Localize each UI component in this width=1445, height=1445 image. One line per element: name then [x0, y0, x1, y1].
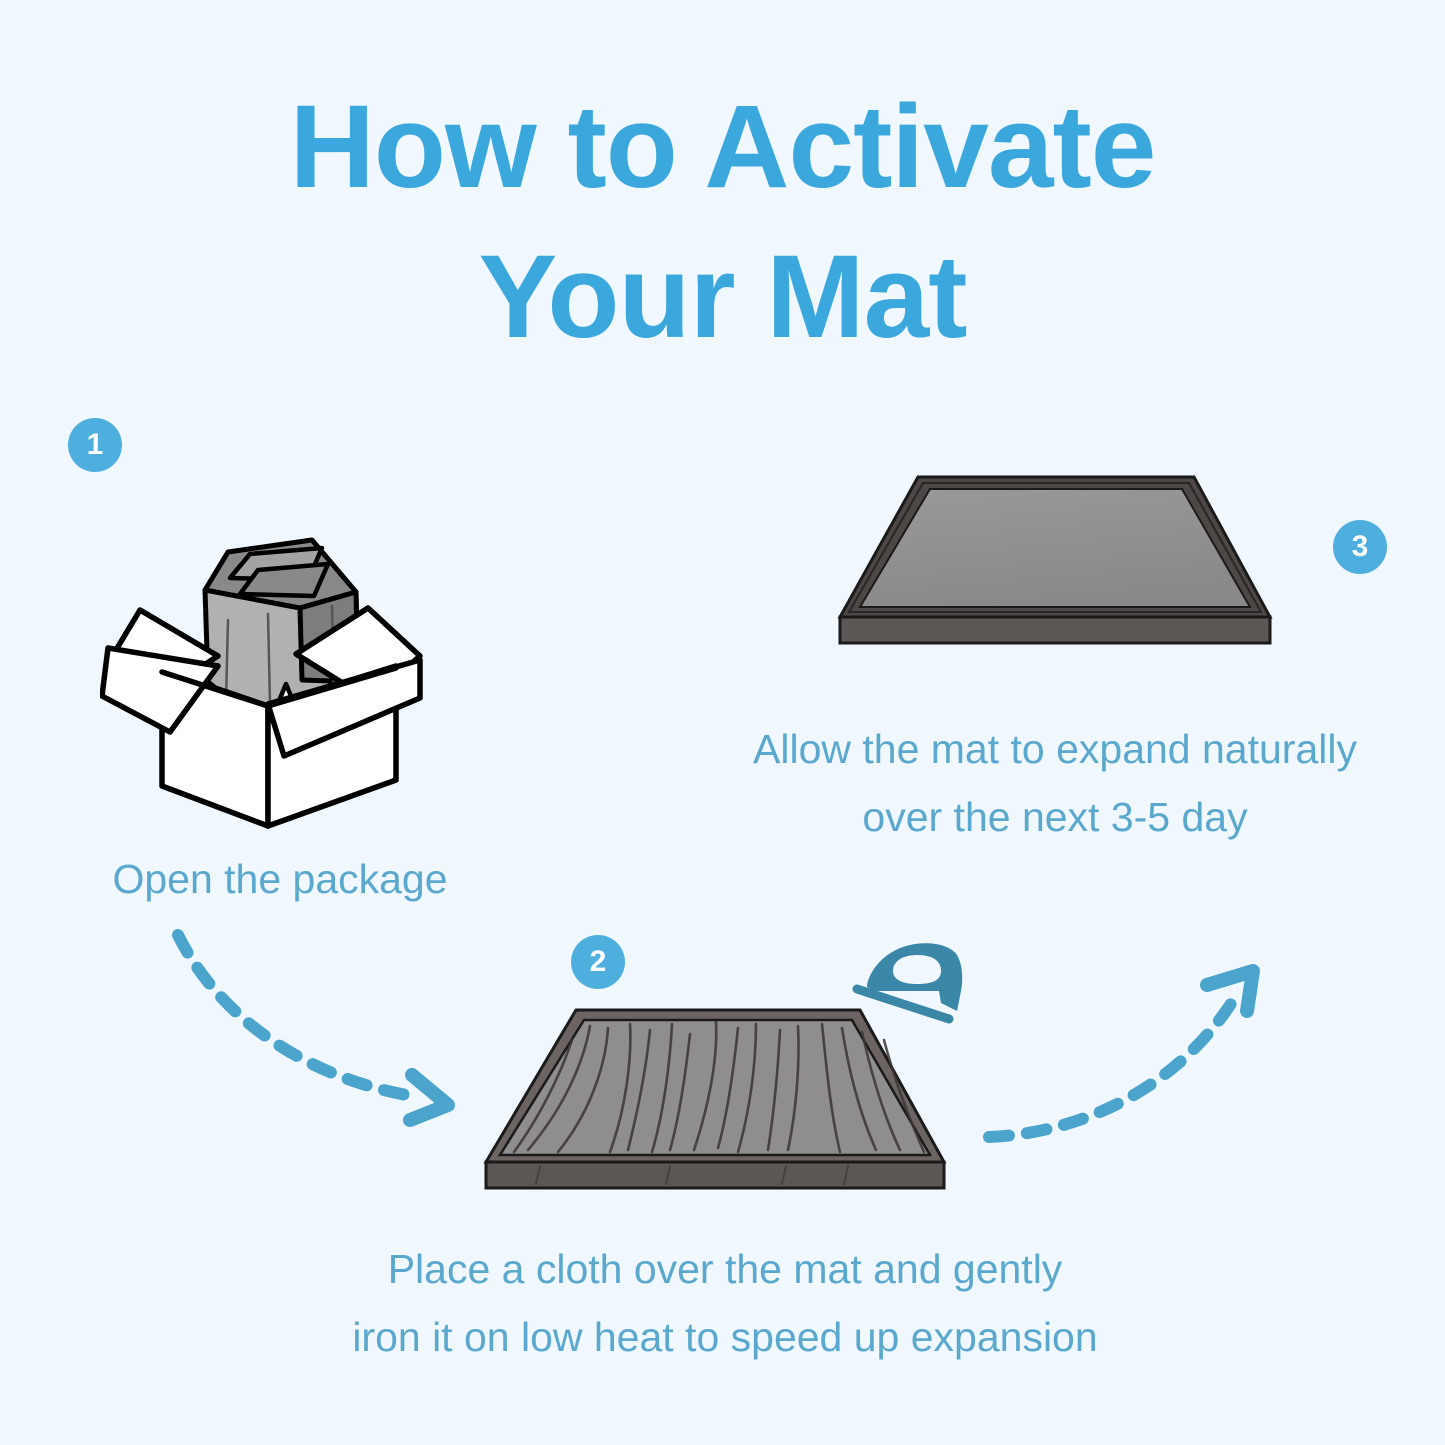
open-shipping-box-icon	[100, 470, 460, 830]
flat-mat-icon	[820, 465, 1290, 665]
curved-dashed-arrow-up-right-icon	[975, 955, 1285, 1160]
title-line-1: How to Activate	[0, 72, 1445, 222]
infographic-poster: How to Activate Your Mat 1	[0, 0, 1445, 1445]
step-badge-1: 1	[68, 418, 122, 472]
wrinkled-mat-icon	[480, 1000, 950, 1215]
step-3-caption: Allow the mat to expand naturally over t…	[660, 715, 1445, 851]
step-1-caption: Open the package	[0, 845, 560, 913]
step-3-caption-line-1: Allow the mat to expand naturally	[753, 726, 1357, 772]
step-2-caption-line-1: Place a cloth over the mat and gently	[388, 1246, 1063, 1292]
step-badge-2: 2	[571, 935, 625, 989]
step-2-caption: Place a cloth over the mat and gently ir…	[160, 1235, 1290, 1371]
step-3-caption-line-2: over the next 3-5 day	[862, 794, 1247, 840]
step-badge-3: 3	[1333, 520, 1387, 574]
curved-dashed-arrow-down-right-icon	[160, 915, 480, 1130]
step-2-caption-line-2: iron it on low heat to speed up expansio…	[352, 1314, 1097, 1360]
page-title: How to Activate Your Mat	[0, 72, 1445, 372]
title-line-2: Your Mat	[0, 222, 1445, 372]
